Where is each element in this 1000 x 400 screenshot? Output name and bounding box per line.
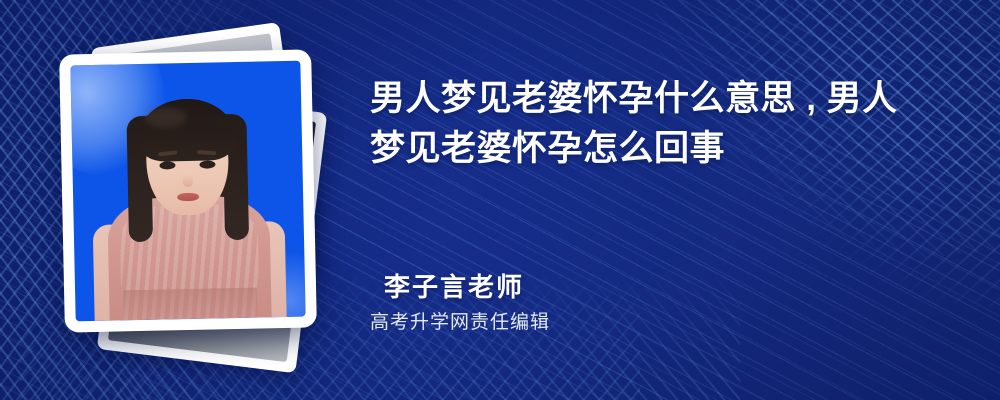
portrait-nose — [183, 175, 193, 187]
author-byline: 李子言老师 高考升学网责任编辑 — [384, 272, 550, 335]
article-title-line-1: 男人梦见老婆怀孕什么意思 , 男人 — [370, 74, 970, 124]
author-role: 高考升学网责任编辑 — [370, 312, 550, 335]
banner-content: 男人梦见老婆怀孕什么意思 , 男人 梦见老婆怀孕怎么回事 李子言老师 高考升学网… — [370, 0, 970, 400]
article-title: 男人梦见老婆怀孕什么意思 , 男人 梦见老婆怀孕怎么回事 — [370, 74, 970, 175]
author-portrait — [70, 61, 305, 322]
author-photo-stack — [52, 28, 342, 368]
article-banner: 男人梦见老婆怀孕什么意思 , 男人 梦见老婆怀孕怎么回事 李子言老师 高考升学网… — [0, 0, 1000, 400]
author-id-photo — [70, 61, 305, 322]
article-title-line-2: 梦见老婆怀孕怎么回事 — [370, 124, 970, 174]
author-photo-frame — [59, 49, 317, 332]
portrait-mouth — [177, 193, 199, 201]
portrait-hair-front — [138, 98, 235, 162]
author-name: 李子言老师 — [384, 272, 550, 303]
